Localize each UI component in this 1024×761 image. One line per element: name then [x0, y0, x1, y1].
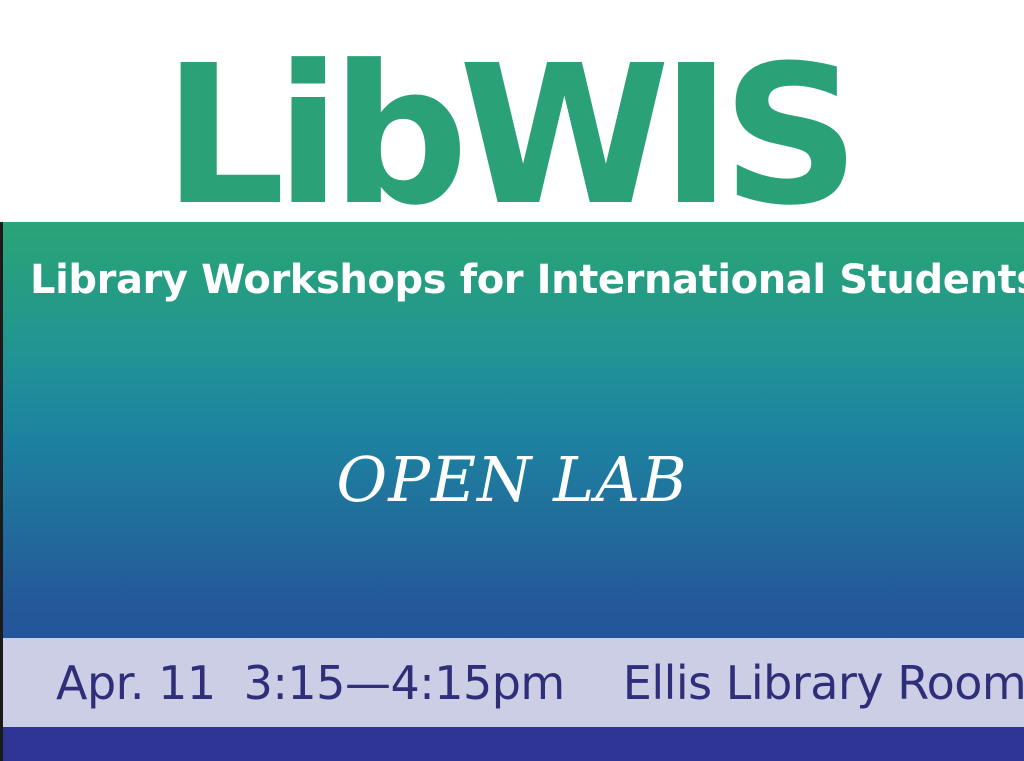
- event-flyer: LibWIS Library Workshops for Internation…: [0, 0, 1024, 761]
- event-title: OPEN LAB: [0, 443, 1024, 517]
- event-details-bar: Apr. 11 3:15—4:15pm Ellis Library Room 4…: [0, 638, 1024, 727]
- header-background: [0, 0, 1024, 222]
- footer-accent-band: [0, 727, 1024, 761]
- program-subtitle: Library Workshops for International Stud…: [30, 256, 1005, 304]
- event-date: Apr. 11: [56, 657, 216, 709]
- event-location: Ellis Library Room 4D11: [623, 657, 1024, 709]
- event-details-line: Apr. 11 3:15—4:15pm Ellis Library Room 4…: [3, 657, 1024, 709]
- event-time: 3:15—4:15pm: [244, 657, 565, 709]
